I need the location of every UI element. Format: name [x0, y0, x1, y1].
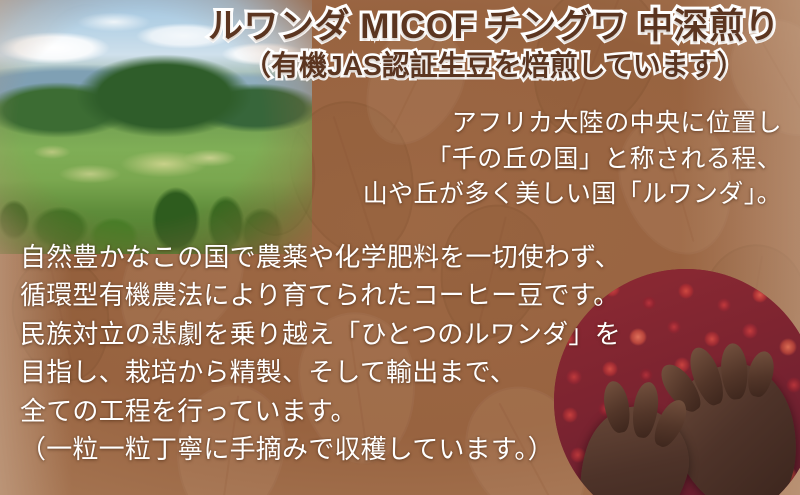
- body-line: （一粒一粒丁寧に手摘みで収穫しています。）: [20, 430, 780, 468]
- intro-line: アフリカ大陸の中央に位置し: [312, 106, 782, 142]
- intro-paragraph: アフリカ大陸の中央に位置し 「千の丘の国」と称される程、 山や丘が多く美しい国「…: [312, 106, 782, 213]
- intro-line: 山や丘が多く美しい国「ルワンダ」。: [312, 177, 782, 213]
- body-line: 全ての工程を行っています。: [20, 392, 780, 430]
- title-block: ルワンダ MICOF チングワ 中深煎り （有機JAS認証生豆を焙煎しています）: [196, 6, 792, 83]
- body-line: 自然豊かなこの国で農薬や化学肥料を一切使わず、: [20, 238, 780, 276]
- product-subtitle: （有機JAS認証生豆を焙煎しています）: [196, 49, 792, 83]
- product-title: ルワンダ MICOF チングワ 中深煎り: [196, 6, 792, 47]
- product-banner: ルワンダ MICOF チングワ 中深煎り （有機JAS認証生豆を焙煎しています）…: [0, 0, 800, 495]
- intro-line: 「千の丘の国」と称される程、: [312, 142, 782, 178]
- body-line: 民族対立の悲劇を乗り越え「ひとつのルワンダ」を: [20, 315, 780, 353]
- body-line: 循環型有機農法により育てられたコーヒー豆です。: [20, 276, 780, 314]
- body-paragraph: 自然豊かなこの国で農薬や化学肥料を一切使わず、 循環型有機農法により育てられたコ…: [20, 238, 780, 469]
- body-line: 目指し、栽培から精製、そして輸出まで、: [20, 353, 780, 391]
